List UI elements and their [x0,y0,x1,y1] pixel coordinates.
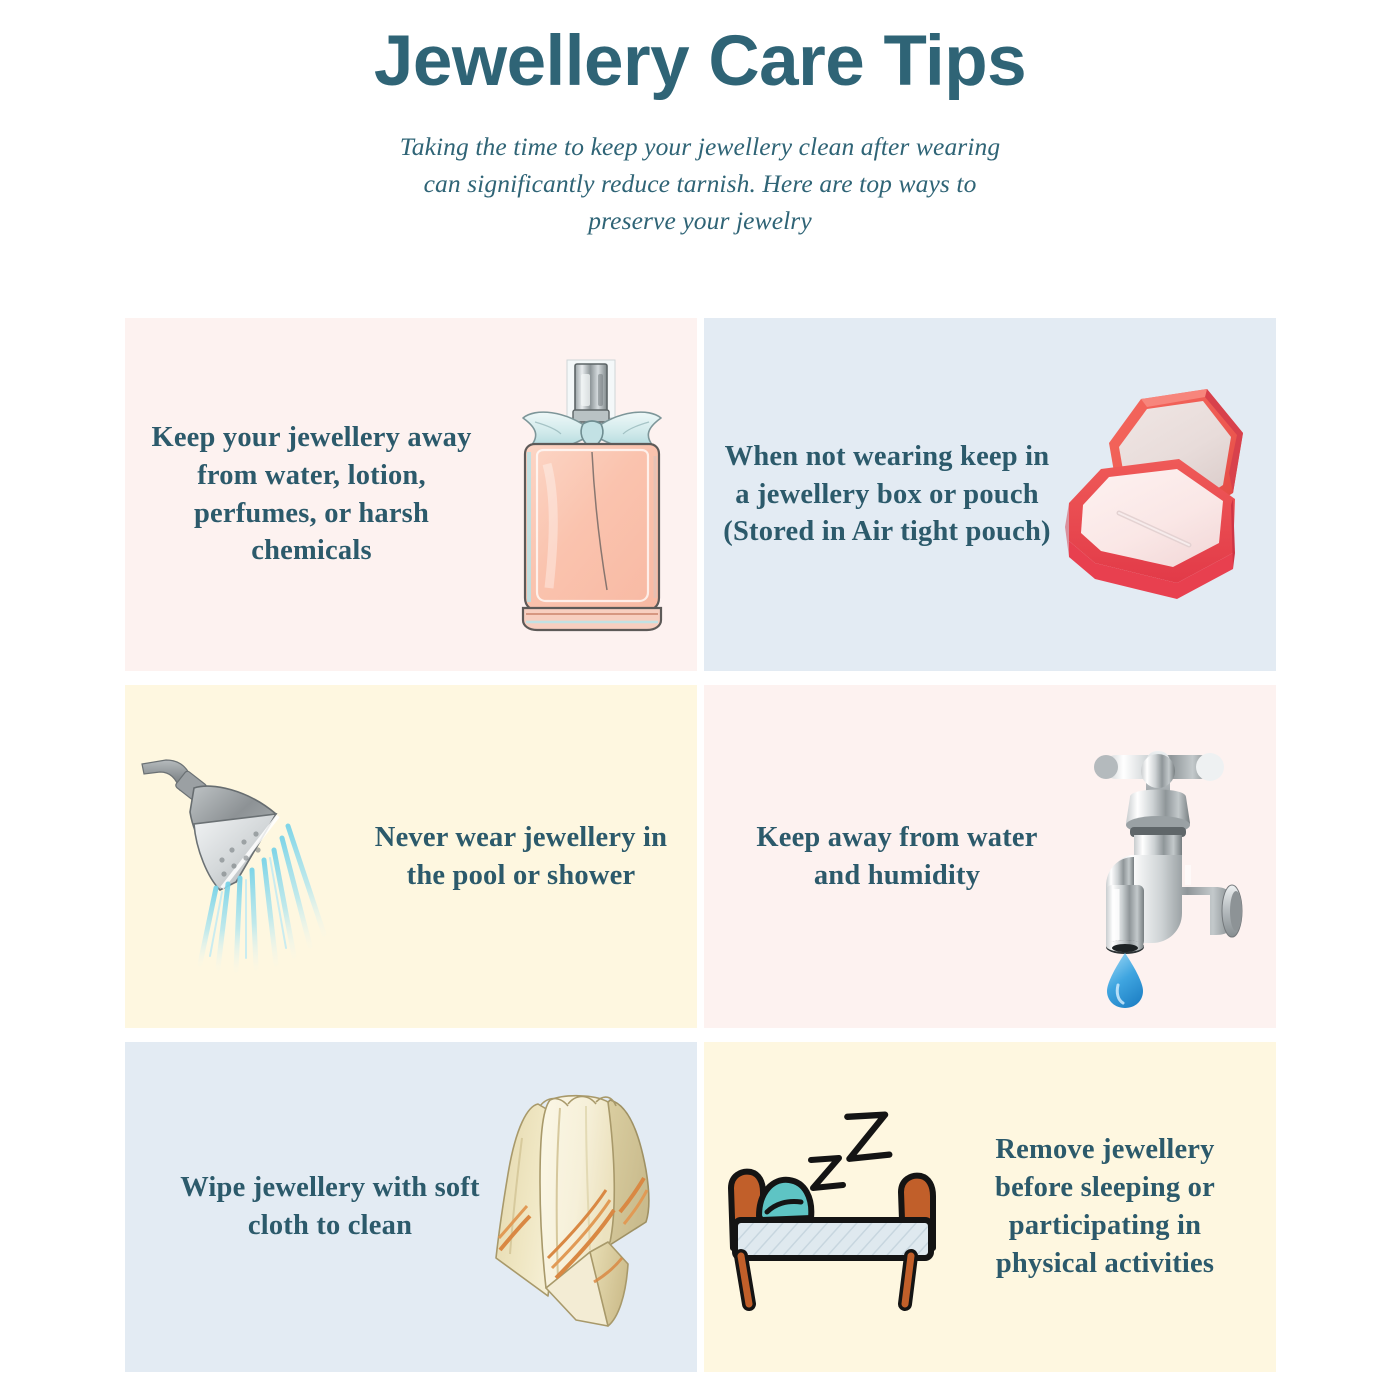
faucet-icon [1052,732,1267,982]
ring-box-icon [1054,365,1264,625]
tip-card-cloth[interactable]: Wipe jewellery with soft cloth to clean [125,1042,697,1372]
perfume-bottle-icon [490,345,690,645]
tips-grid: Keep your jewellery away from water, lot… [125,318,1276,1372]
tip-card-shower[interactable]: Never wear jewellery in the pool or show… [125,685,697,1028]
bed-sleep-icon [710,1092,960,1322]
tip-card-perfume[interactable]: Keep your jewellery away from water, lot… [125,318,697,671]
header: Jewellery Care Tips Taking the time to k… [0,0,1400,240]
tip-card-faucet[interactable]: Keep away from water and humidity [704,685,1276,1028]
cleaning-cloth-icon [485,1075,685,1340]
tip-card-text: When not wearing keep in a jewellery box… [722,438,1052,552]
tip-card-text: Wipe jewellery with soft cloth to clean [175,1169,485,1245]
tip-card-text: Keep your jewellery away from water, lot… [139,419,484,571]
page-subtitle: Taking the time to keep your jewellery c… [380,128,1020,240]
tip-card-text: Never wear jewellery in the pool or show… [371,819,671,895]
tip-card-bed[interactable]: Remove jewellery before sleeping or part… [704,1042,1276,1372]
tip-card-text: Remove jewellery before sleeping or part… [960,1131,1250,1283]
page-title: Jewellery Care Tips [0,22,1400,102]
tip-card-text: Keep away from water and humidity [752,819,1042,895]
infographic-page: Jewellery Care Tips Taking the time to k… [0,0,1400,1400]
shower-head-icon [131,737,371,977]
tip-card-jewellery-box[interactable]: When not wearing keep in a jewellery box… [704,318,1276,671]
